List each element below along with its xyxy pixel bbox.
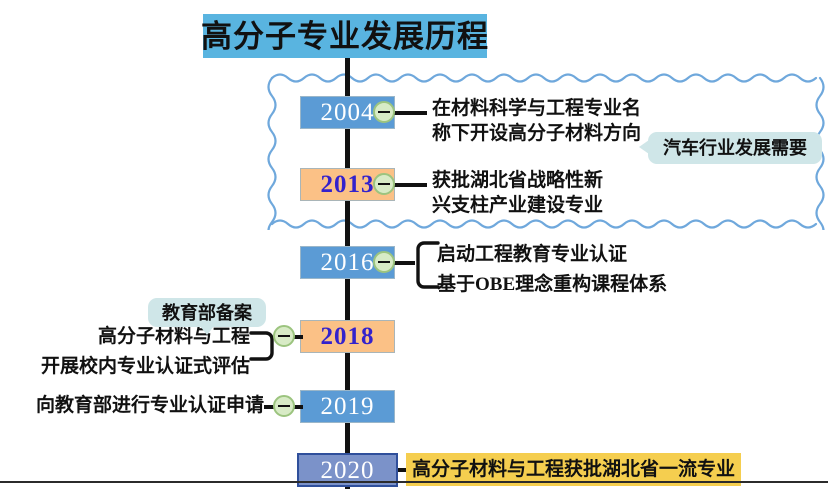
year-label-2016: 2016 [321,250,375,275]
page-title-text: 高分子专业发展历程 [201,21,489,52]
callout-automotive: 汽车行业发展需要 [648,132,822,164]
node-connector-2013 [373,173,395,195]
bottom-edge-rule [0,481,828,483]
branch-line-2016-2: 基于OBE理念重构课程体系 [437,272,697,297]
year-label-2004: 2004 [321,100,375,125]
branch-line-2018-1: 高分子材料与工程 [60,324,250,349]
year-label-2019: 2019 [321,394,375,419]
connector-line-2013 [393,183,427,187]
description-2019: 向教育部进行专业认证申请 [30,393,264,418]
callout-ministry-record: 教育部备案 [148,298,266,327]
description-2013: 获批湖北省战略性新 兴支柱产业建设专业 [432,168,642,218]
branch-line-2016-1: 启动工程教育专业认证 [437,242,697,267]
connector-line-2004 [393,111,427,115]
callout-automotive-text: 汽车行业发展需要 [663,139,807,157]
branch-line-2018-2: 开展校内专业认证式评估 [40,354,250,379]
node-connector-2019 [273,395,295,417]
page-title: 高分子专业发展历程 [203,14,487,58]
year-label-2018: 2018 [321,324,375,349]
timeline-node-2019[interactable]: 2019 [300,390,395,423]
year-label-2013: 2013 [321,172,375,197]
node-connector-2016 [373,251,395,273]
callout-ministry-record-text: 教育部备案 [162,304,252,322]
timeline-node-2018[interactable]: 2018 [300,320,395,353]
node-connector-2004 [373,101,395,123]
timeline-infographic: 高分子专业发展历程 2004 在材料科学与工程专业名 称下开设高分子材料方向 2… [0,0,828,489]
year-label-2020: 2020 [321,458,375,483]
description-2020-text: 高分子材料与工程获批湖北省一流专业 [412,460,735,479]
description-2004: 在材料科学与工程专业名 称下开设高分子材料方向 [432,96,642,146]
node-connector-2018 [273,325,295,347]
